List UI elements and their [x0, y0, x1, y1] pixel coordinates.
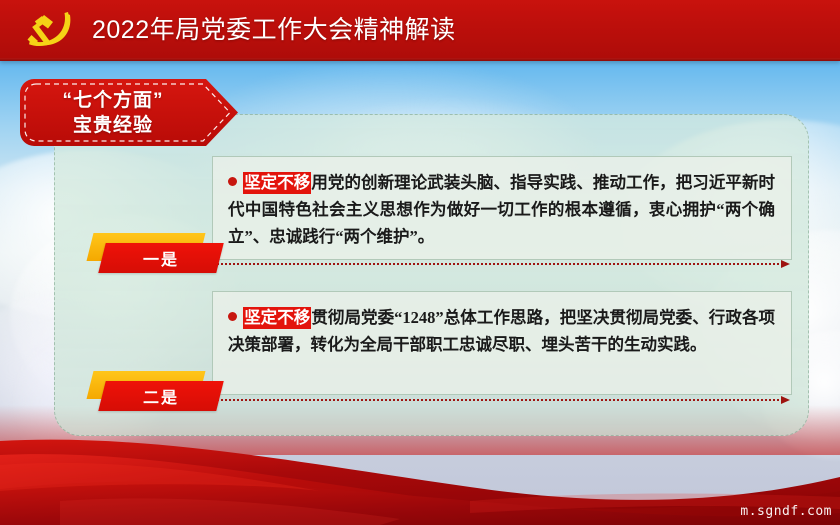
content-box-item-2: 坚定不移贯彻局党委“1248”总体工作思路，把坚决贯彻局党委、行政各项决策部署，… [212, 291, 792, 395]
arrow-right-icon [781, 396, 790, 404]
slide-root: 2022年局党委工作大会精神解读 “七个方面” 宝贵经验 坚定不移用党的创新理论… [0, 0, 840, 525]
arrow-right-icon [781, 260, 790, 268]
watermark: m.sgndf.com [740, 504, 832, 519]
connector-dotted-rule [196, 263, 779, 265]
hammer-and-sickle-icon [18, 7, 82, 55]
content-box-item-1: 坚定不移用党的创新理论武装头脑、指导实践、推动工作，把习近平新时代中国特色社会主… [212, 156, 792, 260]
bullet-icon [228, 312, 237, 321]
highlight-phrase-2: 坚定不移 [243, 307, 311, 329]
content-text-item-1: 坚定不移用党的创新理论武装头脑、指导实践、推动工作，把习近平新时代中国特色社会主… [228, 169, 775, 250]
connector-line-2 [196, 396, 790, 405]
connector-line-1 [196, 260, 790, 269]
content-text-item-2: 坚定不移贯彻局党委“1248”总体工作思路，把坚决贯彻局党委、行政各项决策部署，… [228, 304, 775, 358]
highlight-phrase-1: 坚定不移 [243, 172, 311, 194]
header-bar: 2022年局党委工作大会精神解读 [0, 0, 840, 61]
page-title: 2022年局党委工作大会精神解读 [92, 13, 456, 47]
body-text-2: 贯彻局党委“1248”总体工作思路，把坚决贯彻局党委、行政各项决策部署，转化为全… [228, 308, 775, 354]
section-banner-text: “七个方面” 宝贵经验 [20, 79, 206, 146]
connector-dotted-rule [196, 399, 779, 401]
step-label-2-text: 二是 [102, 381, 220, 411]
banner-line-2: 宝贵经验 [73, 113, 153, 138]
step-label-1-text: 一是 [102, 243, 220, 273]
banner-line-1: “七个方面” [62, 88, 163, 113]
bullet-icon [228, 177, 237, 186]
body-text-1: 用党的创新理论武装头脑、指导实践、推动工作，把习近平新时代中国特色社会主义思想作… [228, 173, 775, 246]
step-label-1: 一是 [90, 233, 220, 273]
section-banner: “七个方面” 宝贵经验 [20, 79, 238, 146]
step-label-2: 二是 [90, 371, 220, 411]
